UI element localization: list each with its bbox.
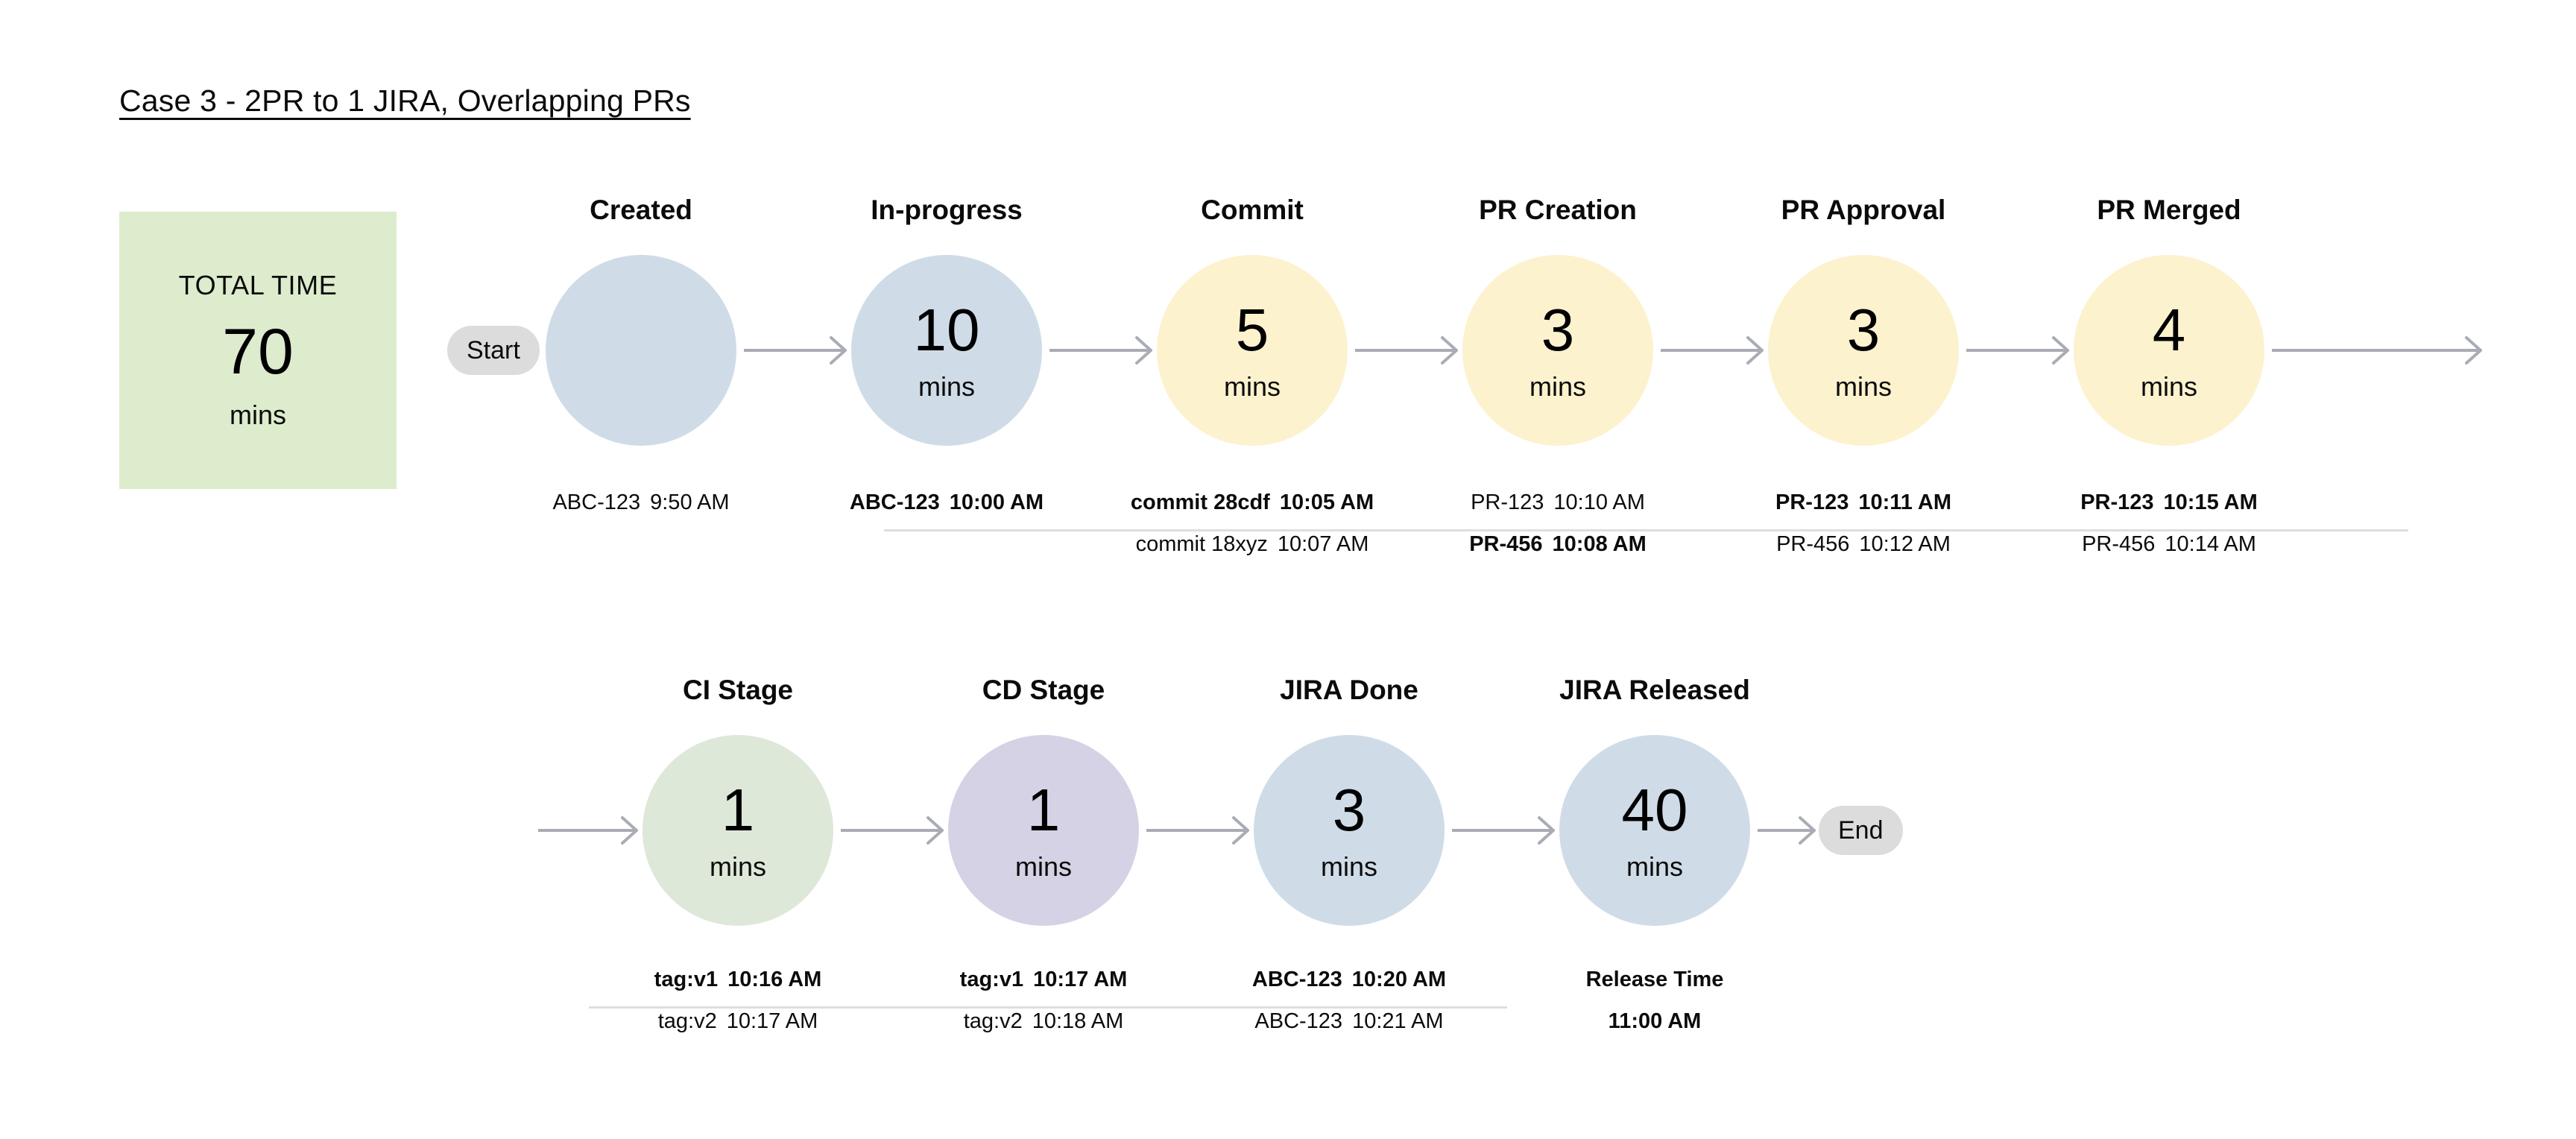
- stage-event-id: Release Time: [1586, 968, 1724, 991]
- stage-event-row: tag:v110:17 AM: [880, 969, 1207, 993]
- stage-event-time: 10:21 AM: [1352, 1009, 1444, 1033]
- stage-event-time: 10:10 AM: [1553, 490, 1645, 514]
- total-time-label: TOTAL TIME: [179, 272, 338, 299]
- stage-node[interactable]: 4mins: [2074, 255, 2264, 446]
- stage-event-row: tag:v110:16 AM: [574, 969, 902, 993]
- stage-event-time: 10:05 AM: [1280, 490, 1374, 514]
- start-badge[interactable]: Start: [447, 326, 540, 375]
- connector-arrow: [1355, 335, 1458, 365]
- stage-title: PR Approval: [1707, 196, 2020, 224]
- stage-duration-value: 10: [914, 300, 980, 360]
- row-wrap-out-arrow: [2272, 335, 2482, 365]
- total-time-unit: mins: [230, 402, 286, 429]
- total-time-card: TOTAL TIME 70 mins: [119, 212, 397, 489]
- stage-event-time: 10:07 AM: [1278, 532, 1369, 556]
- stage-events: ABC-12310:20 AMABC-12310:21 AM: [1185, 969, 1513, 1032]
- stage-event-time: 10:18 AM: [1032, 1009, 1124, 1033]
- row-wrap-in-arrow: [538, 815, 638, 845]
- connector-arrow: [1966, 335, 2069, 365]
- stage-event-id: ABC-123: [552, 490, 640, 514]
- stage-node[interactable]: 3mins: [1462, 255, 1653, 446]
- stage-event-row: 11:00 AM: [1491, 1011, 1819, 1032]
- stage-event-id: PR-456: [1469, 532, 1542, 556]
- stage-event-id: commit 18xyz: [1136, 532, 1268, 556]
- stage-events: tag:v110:16 AMtag:v210:17 AM: [574, 969, 902, 1032]
- stage-title: JIRA Released: [1498, 676, 1811, 704]
- stage-node[interactable]: 5mins: [1157, 255, 1348, 446]
- connector-arrow: [1146, 815, 1249, 845]
- stage-duration-value: 40: [1622, 780, 1688, 840]
- stage-event-row: tag:v210:18 AM: [880, 1011, 1207, 1032]
- stage-event-id: PR-123: [1471, 490, 1544, 514]
- stage-event-id: ABC-123: [850, 490, 940, 514]
- stage-events: PR-12310:10 AMPR-45610:08 AM: [1394, 492, 1722, 555]
- stage-event-row: ABC-12310:00 AM: [783, 492, 1111, 516]
- stage-event-time: 11:00 AM: [1609, 1009, 1702, 1033]
- stage-event-id: tag:v2: [964, 1009, 1023, 1033]
- stage-event-id: PR-456: [1776, 532, 1849, 556]
- stage-event-row: ABC-12310:21 AM: [1185, 1011, 1513, 1032]
- stage-title: PR Creation: [1401, 196, 1714, 224]
- stage-event-id: PR-456: [2082, 532, 2155, 556]
- stage-event-id: ABC-123: [1254, 1009, 1342, 1033]
- stage-duration-value: 5: [1236, 300, 1269, 360]
- stage-event-row: PR-12310:15 AM: [2005, 492, 2333, 516]
- connector-arrow: [1452, 815, 1555, 845]
- stage-event-time: 10:20 AM: [1352, 968, 1446, 991]
- diagram-canvas: Case 3 - 2PR to 1 JIRA, Overlapping PRs …: [0, 0, 2576, 1139]
- stage-event-time: 10:12 AM: [1859, 532, 1951, 556]
- stage-event-row: ABC-1239:50 AM: [477, 492, 805, 516]
- stage-node[interactable]: 1mins: [948, 735, 1139, 926]
- stage-node[interactable]: 3mins: [1254, 735, 1445, 926]
- stage-event-row: commit 18xyz10:07 AM: [1088, 534, 1416, 555]
- stage-duration-unit: mins: [1015, 854, 1072, 880]
- stage-duration-unit: mins: [2141, 373, 2197, 400]
- stage-duration-unit: mins: [710, 854, 766, 880]
- total-time-value: 70: [222, 318, 294, 385]
- stage-event-row: PR-45610:12 AM: [1699, 534, 2027, 555]
- stage-event-row: PR-12310:10 AM: [1394, 492, 1722, 516]
- stage-node[interactable]: 1mins: [643, 735, 833, 926]
- stage-node[interactable]: 10mins: [851, 255, 1042, 446]
- stage-events: commit 28cdf10:05 AMcommit 18xyz10:07 AM: [1088, 492, 1416, 555]
- stage-event-id: PR-123: [1775, 490, 1849, 514]
- end-connector-arrow: [1758, 815, 1816, 845]
- stage-duration-value: 3: [1333, 780, 1366, 840]
- stage-event-time: 10:14 AM: [2165, 532, 2256, 556]
- stage-event-id: tag:v1: [960, 968, 1023, 991]
- connector-arrow: [744, 335, 847, 365]
- stage-duration-unit: mins: [1529, 373, 1586, 400]
- stage-title: In-progress: [790, 196, 1103, 224]
- stage-event-row: commit 28cdf10:05 AM: [1088, 492, 1416, 516]
- stage-event-id: tag:v1: [654, 968, 718, 991]
- stage-events: Release Time11:00 AM: [1491, 969, 1819, 1032]
- stage-events: ABC-1239:50 AM: [477, 492, 805, 516]
- stage-event-time: 10:17 AM: [727, 1009, 818, 1033]
- stage-duration-unit: mins: [1835, 373, 1892, 400]
- stage-duration-value: 1: [722, 780, 755, 840]
- stage-title: CI Stage: [581, 676, 894, 704]
- stage-event-id: ABC-123: [1252, 968, 1342, 991]
- stage-duration-value: 1: [1027, 780, 1061, 840]
- stage-node[interactable]: 3mins: [1768, 255, 1959, 446]
- stage-title: CD Stage: [887, 676, 1200, 704]
- stage-event-id: tag:v2: [658, 1009, 717, 1033]
- end-badge[interactable]: End: [1819, 806, 1903, 855]
- connector-arrow: [1049, 335, 1152, 365]
- stage-node[interactable]: 40mins: [1559, 735, 1750, 926]
- stage-event-id: PR-123: [2080, 490, 2153, 514]
- stage-duration-unit: mins: [1321, 854, 1377, 880]
- stage-duration-unit: mins: [1626, 854, 1683, 880]
- stage-events: PR-12310:15 AMPR-45610:14 AM: [2005, 492, 2333, 555]
- stage-event-row: PR-45610:14 AM: [2005, 534, 2333, 555]
- stage-event-time: 9:50 AM: [650, 490, 729, 514]
- stage-title: Commit: [1096, 196, 1409, 224]
- stage-event-time: 10:16 AM: [727, 968, 821, 991]
- stage-event-time: 10:17 AM: [1033, 968, 1127, 991]
- stage-event-row: PR-12310:11 AM: [1699, 492, 2027, 516]
- stage-event-time: 10:00 AM: [950, 490, 1044, 514]
- stage-duration-unit: mins: [1224, 373, 1281, 400]
- stage-duration-value: 3: [1847, 300, 1881, 360]
- stage-event-row: Release Time: [1491, 969, 1819, 993]
- stage-events: tag:v110:17 AMtag:v210:18 AM: [880, 969, 1207, 1032]
- connector-arrow: [1661, 335, 1764, 365]
- stage-event-row: PR-45610:08 AM: [1394, 534, 1722, 555]
- stage-event-row: tag:v210:17 AM: [574, 1011, 902, 1032]
- stage-event-row: ABC-12310:20 AM: [1185, 969, 1513, 993]
- stage-duration-value: 4: [2153, 300, 2186, 360]
- stage-duration-unit: mins: [918, 373, 975, 400]
- stage-event-id: commit 28cdf: [1131, 490, 1270, 514]
- stage-event-time: 10:08 AM: [1553, 532, 1647, 556]
- connector-arrow: [841, 815, 944, 845]
- stage-node[interactable]: [546, 255, 736, 446]
- stage-duration-value: 3: [1541, 300, 1575, 360]
- stage-title: JIRA Done: [1193, 676, 1506, 704]
- stage-event-time: 10:11 AM: [1858, 490, 1951, 514]
- stage-title: Created: [484, 196, 798, 224]
- stage-events: ABC-12310:00 AM: [783, 492, 1111, 534]
- stage-title: PR Merged: [2012, 196, 2326, 224]
- page-title: Case 3 - 2PR to 1 JIRA, Overlapping PRs: [119, 83, 691, 119]
- stage-event-time: 10:15 AM: [2164, 490, 2258, 514]
- stage-events: PR-12310:11 AMPR-45610:12 AM: [1699, 492, 2027, 555]
